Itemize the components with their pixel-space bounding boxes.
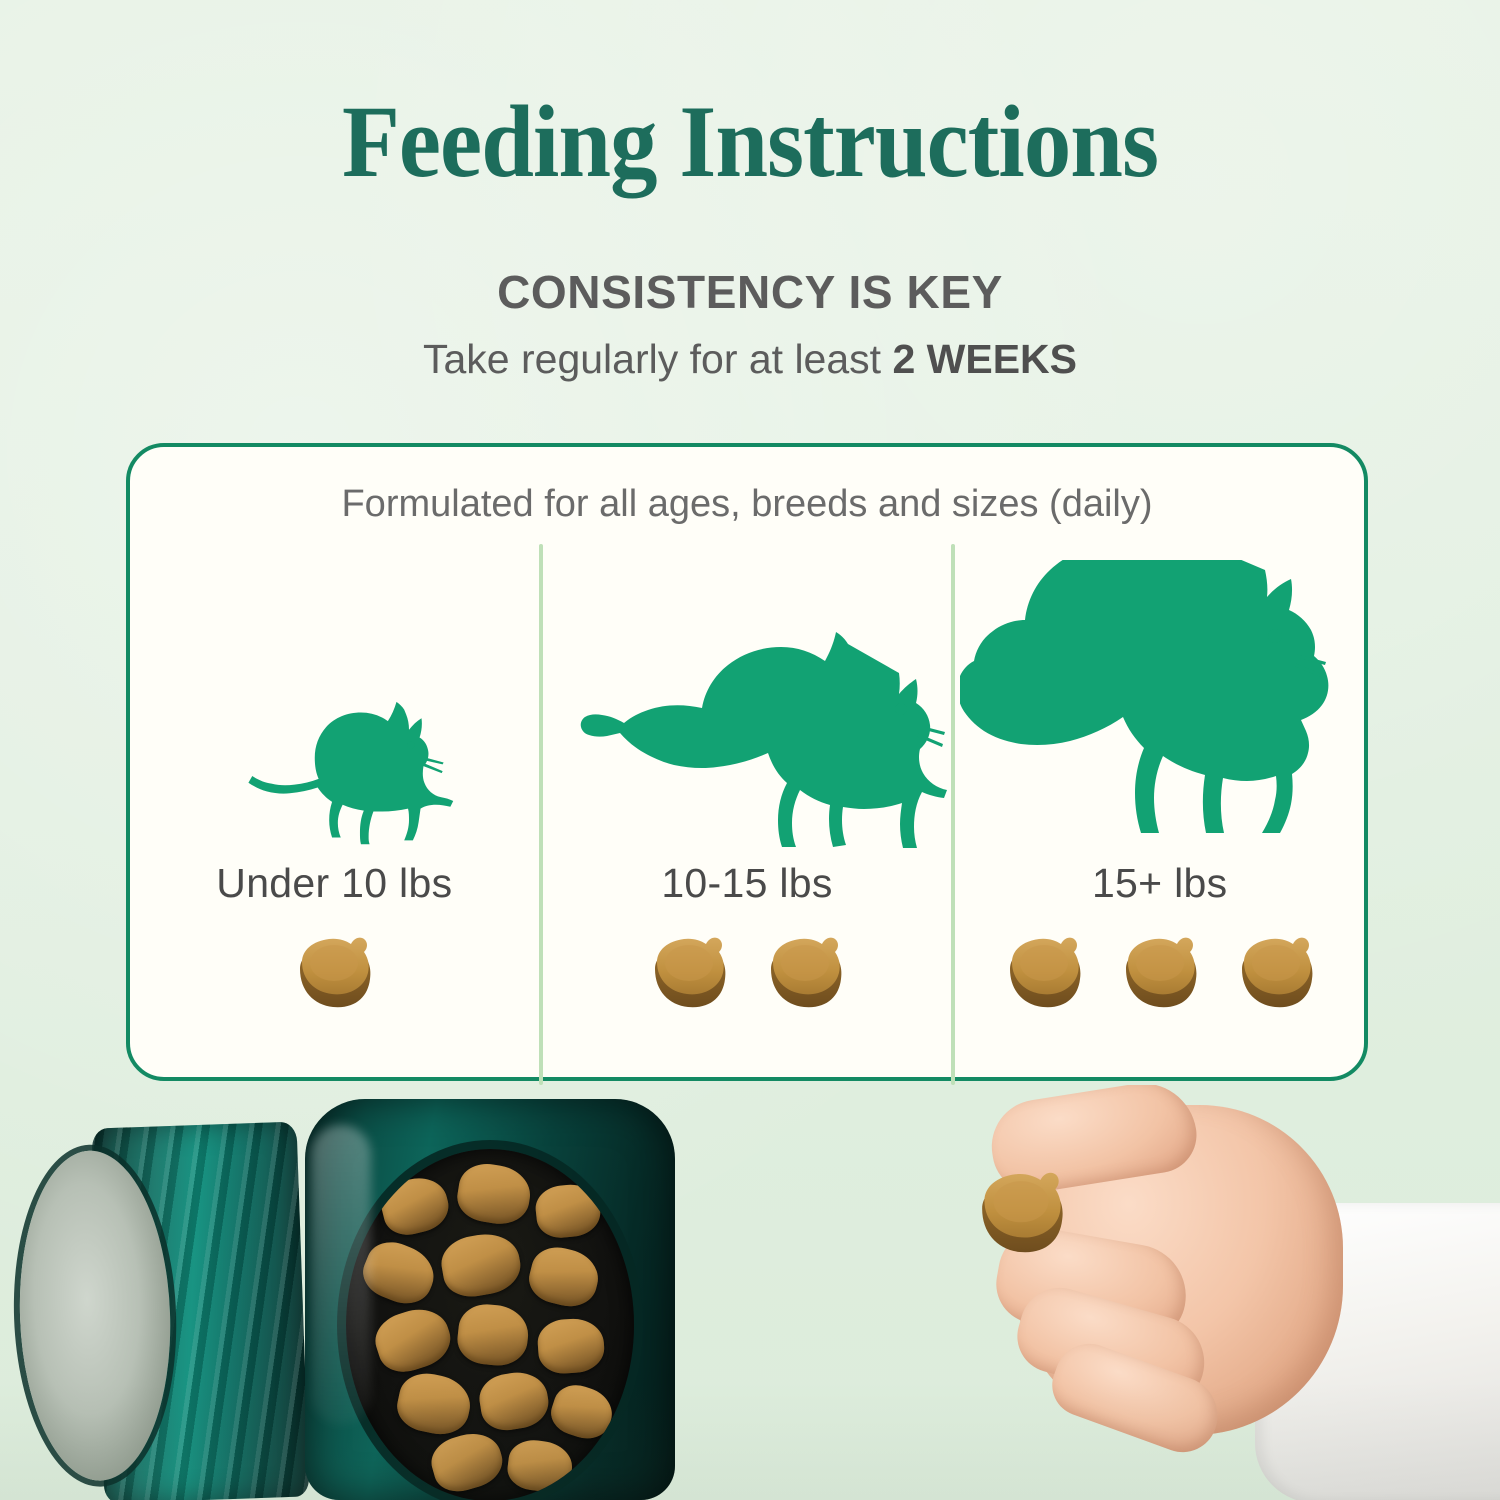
product-photo-strip (0, 1085, 1500, 1500)
weight-label: 10-15 lbs (661, 860, 832, 907)
chew-icon (1118, 933, 1202, 1011)
consistency-subline: Take regularly for at least 2 WEEKS (0, 336, 1500, 383)
weight-label: Under 10 lbs (216, 860, 452, 907)
card-header-text: Formulated for all ages, breeds and size… (130, 483, 1364, 526)
chew-icon (1234, 933, 1318, 1011)
dosage-columns: Under 10 lbs (130, 544, 1364, 1085)
adult-cat-silhouette-icon (543, 544, 952, 850)
jar-glass-highlight (311, 1125, 371, 1425)
held-chew-icon (973, 1167, 1069, 1257)
dosage-column-under-10: Under 10 lbs (130, 544, 539, 1085)
consistency-subline-emphasis: 2 WEEKS (892, 336, 1077, 382)
hand-holding-chew-photo (955, 1085, 1500, 1500)
dosage-column-15-plus: 15+ lbs (955, 544, 1364, 1085)
consistency-subline-prefix: Take regularly for at least (423, 336, 892, 382)
feeding-chart-card: Formulated for all ages, breeds and size… (126, 443, 1368, 1081)
chew-icon (647, 933, 731, 1011)
chew-dose-group (647, 933, 847, 1011)
chew-icon (763, 933, 847, 1011)
large-longhair-cat-silhouette-icon (955, 544, 1364, 850)
chew-icon (1002, 933, 1086, 1011)
consistency-headline: CONSISTENCY IS KEY (0, 265, 1500, 319)
chew-dose-group (1002, 933, 1318, 1011)
page-title: Feeding Instructions (60, 88, 1440, 196)
weight-label: 15+ lbs (1092, 860, 1227, 907)
chew-icon (292, 933, 376, 1011)
chew-dose-group (292, 933, 376, 1011)
open-chew-jar-photo (305, 1099, 675, 1500)
jar-lid-photo (92, 1122, 310, 1500)
jar-opening (346, 1149, 634, 1500)
kitten-silhouette-icon (130, 544, 539, 850)
dosage-column-10-15: 10-15 lbs (543, 544, 952, 1085)
